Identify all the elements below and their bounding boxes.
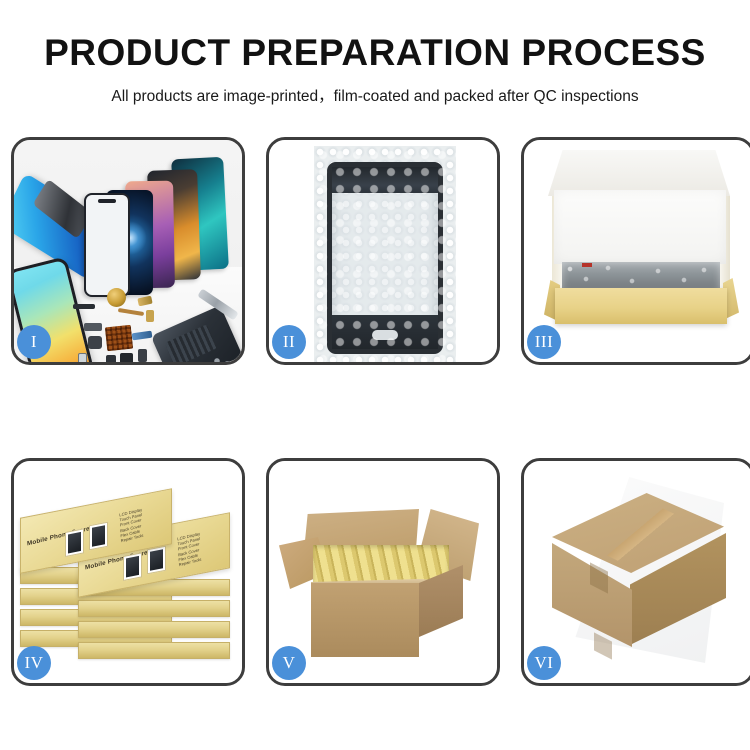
step-badge-5: V <box>272 646 306 680</box>
retail-box-checklist: LCD Display Touch Panel Front Cover Back… <box>119 502 163 543</box>
speaker-part-icon <box>107 288 126 307</box>
small-part-4 <box>84 323 102 331</box>
process-step-card-4[interactable]: Mobile Phone Spare Parts LCD Display Tou… <box>11 458 245 686</box>
process-step-card-3[interactable]: III <box>521 137 750 365</box>
stacked-box-slab <box>78 621 230 638</box>
step-badge-6: VI <box>527 646 561 680</box>
process-step-card-6[interactable]: VI <box>521 458 750 686</box>
step-3-image <box>524 140 750 362</box>
process-step-card-1[interactable]: I <box>11 137 245 365</box>
retail-box-window-a <box>123 552 142 581</box>
page-title: PRODUCT PREPARATION PROCESS <box>0 34 750 73</box>
step-2-image <box>269 140 497 362</box>
step-6-image <box>524 461 750 683</box>
step-badge-2: II <box>272 325 306 359</box>
small-part-10 <box>78 353 87 362</box>
box-front-panel <box>555 288 727 324</box>
retail-box-checklist: LCD Display Touch Panel Front Cover Back… <box>177 526 221 567</box>
step-1-image <box>14 140 242 362</box>
small-part-8 <box>120 353 133 362</box>
white-foam-sheet <box>554 190 726 264</box>
page-subtitle: All products are image-printed，film-coat… <box>0 84 750 106</box>
small-part-9 <box>138 349 147 362</box>
process-step-grid: I II III <box>11 137 739 686</box>
phone-front-glass <box>327 162 443 354</box>
red-label-mark <box>582 263 592 267</box>
process-step-card-5[interactable]: V <box>266 458 500 686</box>
carton-front-panel <box>311 583 419 657</box>
home-button <box>372 330 398 340</box>
retail-box-stack: Mobile Phone Spare Parts LCD Display Tou… <box>14 461 242 683</box>
stacked-box-slab <box>78 600 230 617</box>
step-badge-1: I <box>17 325 51 359</box>
page-header: PRODUCT PREPARATION PROCESS All products… <box>0 0 750 106</box>
retail-box-window-b <box>147 546 166 575</box>
small-part-3 <box>146 310 154 322</box>
step-badge-4: IV <box>17 646 51 680</box>
fanned-phone-1 <box>84 193 130 297</box>
step-badge-3: III <box>527 325 561 359</box>
small-part-1 <box>73 304 95 309</box>
process-step-card-2[interactable]: II <box>266 137 500 365</box>
small-part-5 <box>88 336 102 349</box>
screws-group <box>214 358 236 362</box>
chip-grid-part <box>105 325 133 352</box>
retail-box-window-a <box>65 528 84 557</box>
stacked-box-slab <box>78 642 230 659</box>
step-5-image <box>269 461 497 683</box>
step-4-image: Mobile Phone Spare Parts LCD Display Tou… <box>14 461 242 683</box>
small-part-7 <box>106 355 116 362</box>
retail-box-window-b <box>89 522 108 551</box>
